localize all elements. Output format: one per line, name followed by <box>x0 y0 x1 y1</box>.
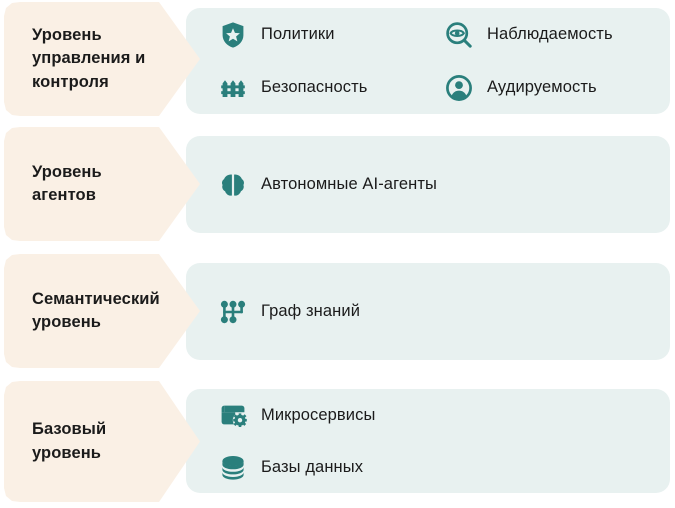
layer-tab-agents[interactable]: Уровень агентов <box>4 127 200 241</box>
list-item-label: Аудируемость <box>487 79 597 96</box>
layer-tab-label: Семантический уровень <box>4 288 174 335</box>
architecture-layers-diagram: Политики Наблюдаемость <box>0 0 675 508</box>
layer-items-governance: Политики Наблюдаемость <box>186 8 670 114</box>
list-item-microservices[interactable]: Микросервисы <box>186 389 670 441</box>
microservice-window-gear-icon <box>218 400 248 430</box>
list-item-security[interactable]: Безопасность <box>186 61 426 114</box>
layer-items-semantic: Граф знаний <box>186 263 670 360</box>
layer-tab-governance[interactable]: Уровень управления и контроля <box>4 2 200 116</box>
list-item-autonomous-ai-agents[interactable]: Автономные AI-агенты <box>186 170 670 200</box>
layer-row-semantic: Граф знаний Семантический уровень <box>0 254 675 369</box>
database-stack-icon <box>218 452 248 482</box>
layer-tab-base[interactable]: Базовый уровень <box>4 381 200 502</box>
layer-tab-label: Уровень управления и контроля <box>4 24 159 94</box>
fence-icon <box>218 73 248 103</box>
list-item-label: Автономные AI-агенты <box>261 176 437 193</box>
layer-row-base: Микросервисы Базы данных Ба <box>0 381 675 505</box>
layer-row-governance: Политики Наблюдаемость <box>0 0 675 118</box>
layer-items-base: Микросервисы Базы данных <box>186 389 670 493</box>
layer-tab-label: Базовый уровень <box>4 418 120 465</box>
list-item-label: Политики <box>261 26 335 43</box>
list-item-auditability[interactable]: Аудируемость <box>426 61 670 114</box>
layer-tab-label: Уровень агентов <box>4 161 116 208</box>
list-item-label: Безопасность <box>261 79 367 96</box>
list-item-label: Граф знаний <box>261 303 360 320</box>
layer-tab-semantic[interactable]: Семантический уровень <box>4 254 200 368</box>
layer-items-agents: Автономные AI-агенты <box>186 136 670 233</box>
brain-icon <box>218 170 248 200</box>
shield-star-icon <box>218 20 248 50</box>
list-item-knowledge-graph[interactable]: Граф знаний <box>186 297 670 327</box>
list-item-label: Наблюдаемость <box>487 26 613 43</box>
list-item-databases[interactable]: Базы данных <box>186 441 670 493</box>
list-item-observability[interactable]: Наблюдаемость <box>426 8 670 61</box>
list-item-label: Базы данных <box>261 459 363 476</box>
magnifier-eye-icon <box>444 20 474 50</box>
user-circle-icon <box>444 73 474 103</box>
list-item-label: Микросервисы <box>261 407 375 424</box>
list-item-policies[interactable]: Политики <box>186 8 426 61</box>
layer-row-agents: Автономные AI-агенты Уровень агентов <box>0 127 675 242</box>
knowledge-graph-icon <box>218 297 248 327</box>
